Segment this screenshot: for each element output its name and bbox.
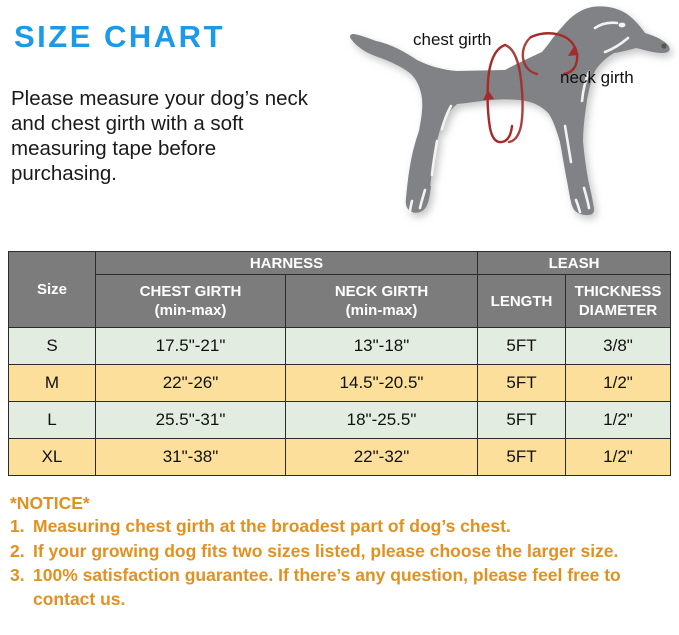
notice-item-number: 3. [10,564,33,611]
leash-length-title: LENGTH [478,292,565,311]
table-row: L25.5"-31"18"-25.5"5FT1/2" [9,402,671,439]
cell-neck-girth: 13"-18" [286,328,478,365]
neck-girth-title: NECK GIRTH [286,282,477,301]
cell-chest-girth: 31"-38" [96,439,286,476]
neck-girth-label: neck girth [560,68,634,88]
cell-chest-girth: 17.5"-21" [96,328,286,365]
column-header-size: Size [9,252,96,328]
cell-size: S [9,328,96,365]
notice-item-text: Measuring chest girth at the broadest pa… [33,515,670,539]
column-header-leash-thickness: THICKNESS DIAMETER [566,275,671,328]
column-header-neck-girth: NECK GIRTH (min-max) [286,275,478,328]
header-section: SIZE CHART Please measure your dog’s nec… [0,0,679,232]
cell-leash-thickness: 1/2" [566,402,671,439]
size-chart-table: Size HARNESS LEASH CHEST GIRTH (min-max)… [8,251,671,476]
cell-leash-length: 5FT [478,402,566,439]
table-row: M22"-26"14.5"-20.5"5FT1/2" [9,365,671,402]
chest-girth-range-note: (min-max) [96,301,285,320]
notice-item: 1.Measuring chest girth at the broadest … [10,515,670,539]
table-header: Size HARNESS LEASH CHEST GIRTH (min-max)… [9,252,671,328]
column-group-header-leash: LEASH [478,252,671,275]
cell-leash-length: 5FT [478,439,566,476]
table-header-row-subheads: CHEST GIRTH (min-max) NECK GIRTH (min-ma… [9,275,671,328]
table-row: S17.5"-21"13"-18"5FT3/8" [9,328,671,365]
notice-item: 2.If your growing dog fits two sizes lis… [10,540,670,564]
cell-size: M [9,365,96,402]
notice-item-number: 1. [10,515,33,539]
cell-leash-length: 5FT [478,365,566,402]
cell-size: XL [9,439,96,476]
notice-item-text: If your growing dog fits two sizes liste… [33,540,670,564]
chest-girth-label: chest girth [413,30,491,50]
notice-item-number: 2. [10,540,33,564]
cell-neck-girth: 14.5"-20.5" [286,365,478,402]
column-header-chest-girth: CHEST GIRTH (min-max) [96,275,286,328]
chest-girth-title: CHEST GIRTH [96,282,285,301]
table-header-row-groups: Size HARNESS LEASH [9,252,671,275]
cell-neck-girth: 22"-32" [286,439,478,476]
cell-chest-girth: 25.5"-31" [96,402,286,439]
notice-title: *NOTICE* [10,492,670,514]
intro-instructions: Please measure your dog’s neck and chest… [11,86,311,186]
cell-chest-girth: 22"-26" [96,365,286,402]
notice-section: *NOTICE* 1.Measuring chest girth at the … [10,492,670,611]
notice-list: 1.Measuring chest girth at the broadest … [10,515,670,611]
cell-leash-thickness: 3/8" [566,328,671,365]
cell-size: L [9,402,96,439]
dog-silhouette-icon [333,2,679,227]
page-title: SIZE CHART [14,19,225,55]
notice-item-text: 100% satisfaction guarantee. If there’s … [33,564,670,611]
cell-leash-thickness: 1/2" [566,365,671,402]
leash-diameter-title: DIAMETER [566,301,670,320]
cell-neck-girth: 18"-25.5" [286,402,478,439]
cell-leash-thickness: 1/2" [566,439,671,476]
table-body: S17.5"-21"13"-18"5FT3/8"M22"-26"14.5"-20… [9,328,671,476]
notice-item: 3.100% satisfaction guarantee. If there’… [10,564,670,611]
leash-thickness-title: THICKNESS [566,282,670,301]
neck-girth-range-note: (min-max) [286,301,477,320]
column-header-leash-length: LENGTH [478,275,566,328]
table-row: XL31"-38"22"-32"5FT1/2" [9,439,671,476]
cell-leash-length: 5FT [478,328,566,365]
column-group-header-harness: HARNESS [96,252,478,275]
